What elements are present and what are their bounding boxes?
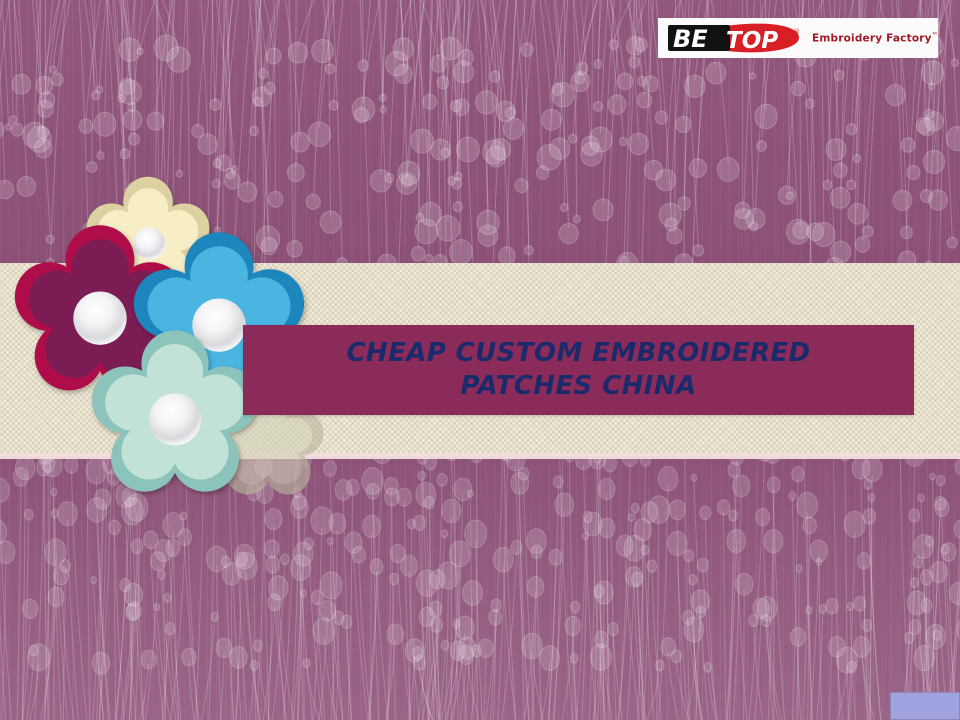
svg-text:®: ® xyxy=(793,28,800,36)
page-title: CHEAP CUSTOM EMBROIDERED PATCHES CHINA xyxy=(346,337,810,404)
slide-canvas: CHEAP CUSTOM EMBROIDERED PATCHES CHINA B… xyxy=(0,0,960,720)
svg-text:BE: BE xyxy=(673,25,708,53)
trademark-icon: ™ xyxy=(932,32,938,39)
svg-text:TOP: TOP xyxy=(726,28,778,54)
logo-tagline-text: Embroidery Factory xyxy=(812,32,932,44)
company-logo[interactable]: BE TOP ® Embroidery Factory™ xyxy=(658,18,938,58)
slide-title-bar: CHEAP CUSTOM EMBROIDERED PATCHES CHINA xyxy=(243,325,914,415)
betop-logo-icon: BE TOP ® xyxy=(666,22,806,54)
logo-tagline: Embroidery Factory™ xyxy=(812,32,938,45)
corner-placeholder-box[interactable] xyxy=(890,692,960,720)
